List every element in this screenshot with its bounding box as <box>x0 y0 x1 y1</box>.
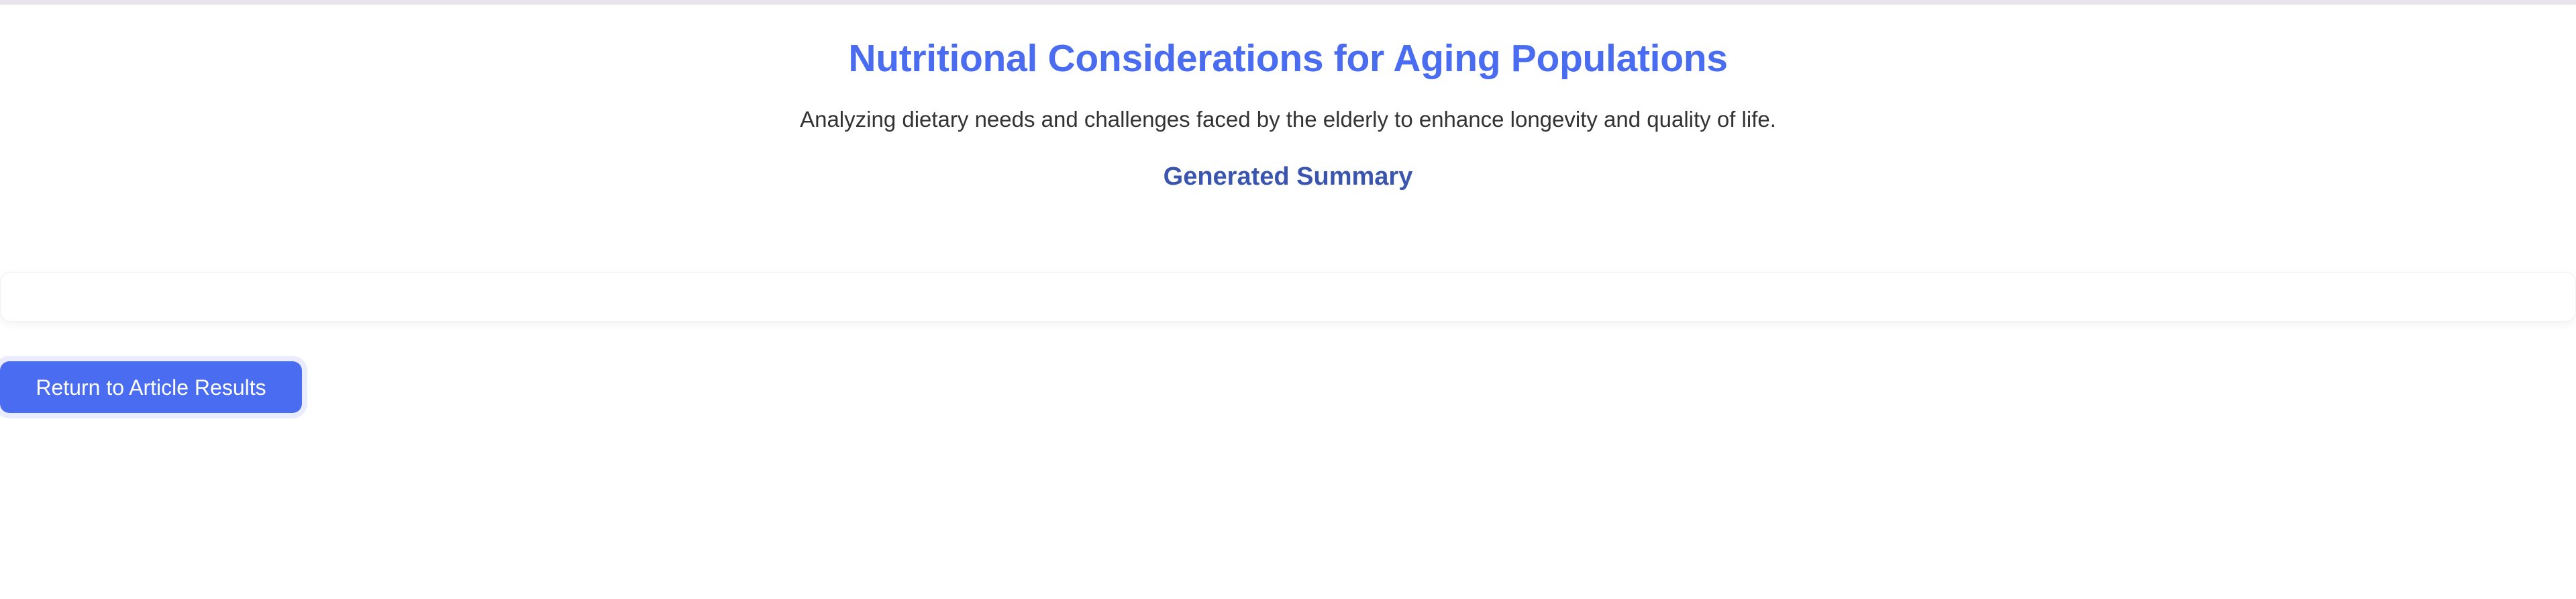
browser-chrome-strip <box>0 0 2576 5</box>
summary-card <box>0 272 2576 322</box>
article-subtitle: Analyzing dietary needs and challenges f… <box>0 81 2576 134</box>
summary-page: Nutritional Considerations for Aging Pop… <box>0 5 2576 599</box>
page-title: Nutritional Considerations for Aging Pop… <box>0 37 2576 81</box>
article-header: Nutritional Considerations for Aging Pop… <box>0 5 2576 193</box>
generated-summary-heading: Generated Summary <box>0 134 2576 193</box>
summary-body-text <box>1 273 2575 297</box>
page-actions: Return to Article Results <box>0 361 302 413</box>
return-to-article-results-button[interactable]: Return to Article Results <box>0 361 302 413</box>
